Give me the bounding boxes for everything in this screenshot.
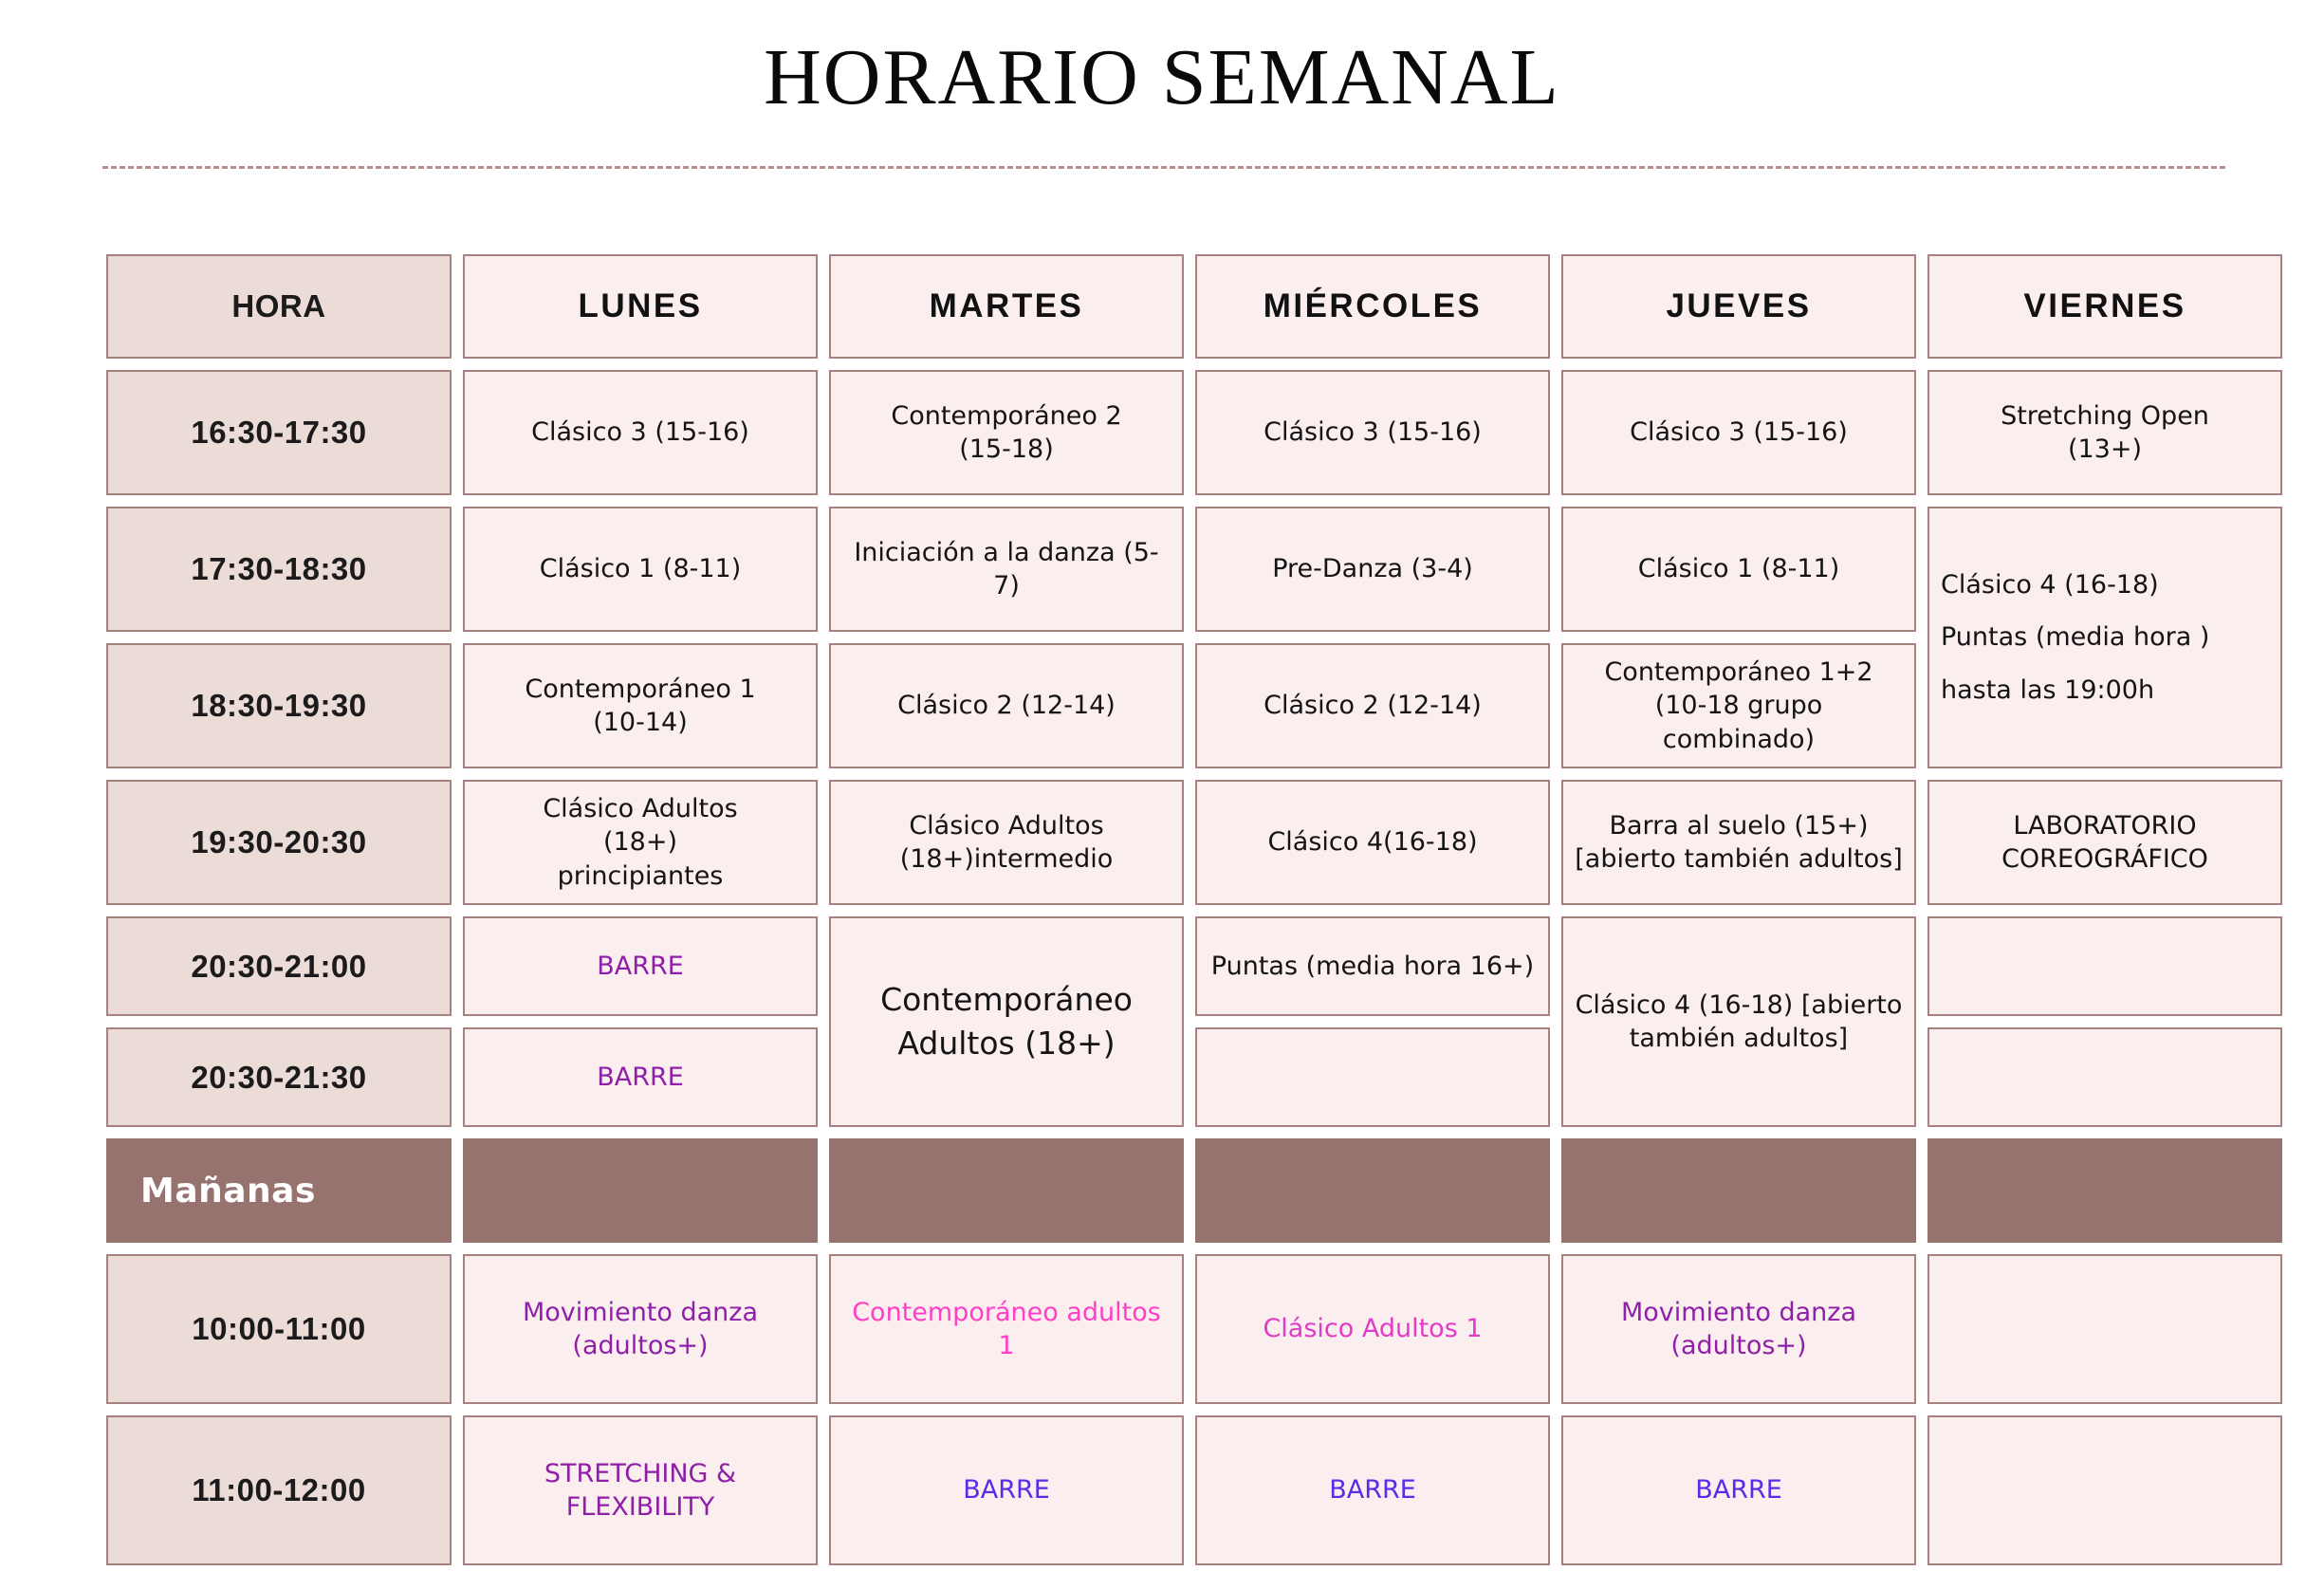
class-cell-miercoles-1000[interactable]: Clásico Adultos 1 xyxy=(1195,1254,1550,1404)
class-cell-jueves-1100-text: BARRE xyxy=(1695,1473,1782,1506)
class-cell-viernes-1100[interactable] xyxy=(1927,1415,2282,1565)
class-cell-miercoles-1100[interactable]: BARRE xyxy=(1195,1415,1550,1565)
class-cell-lunes-2130[interactable]: BARRE xyxy=(463,1027,818,1127)
class-cell-jueves-1730[interactable]: Clásico 1 (8-11) xyxy=(1561,507,1916,632)
class-cell-martes-1100[interactable]: BARRE xyxy=(829,1415,1184,1565)
class-cell-viernes-1730-1830-merged[interactable]: Clásico 4 (16-18) Puntas (media hora ) h… xyxy=(1927,507,2282,768)
section-band-miercoles xyxy=(1195,1138,1550,1243)
class-cell-lunes-1000[interactable]: Movimiento danza (adultos+) xyxy=(463,1254,818,1404)
column-header-viernes-label: VIERNES xyxy=(2023,287,2186,325)
class-cell-martes-1630-text: Contemporáneo 2 (15-18) xyxy=(891,399,1121,466)
class-cell-viernes-1630-text: Stretching Open (13+) xyxy=(2001,399,2209,466)
class-cell-lunes-2030[interactable]: BARRE xyxy=(463,916,818,1016)
column-header-lunes: LUNES xyxy=(463,254,818,359)
column-header-lunes-label: LUNES xyxy=(578,287,702,325)
class-cell-martes-1730[interactable]: Iniciación a la danza (5-7) xyxy=(829,507,1184,632)
class-cell-martes-1000[interactable]: Contemporáneo adultos 1 xyxy=(829,1254,1184,1404)
class-cell-jueves-1100[interactable]: BARRE xyxy=(1561,1415,1916,1565)
class-cell-viernes-1930-text: LABORATORIO COREOGRÁFICO xyxy=(2001,809,2208,876)
class-cell-miercoles-2030-text: Puntas (media hora 16+) xyxy=(1211,950,1534,983)
class-cell-viernes-1730-1830-merged-text: Clásico 4 (16-18) Puntas (media hora ) h… xyxy=(1941,559,2209,716)
time-label-2030-2130-text: 20:30-21:30 xyxy=(191,1060,366,1096)
class-cell-lunes-1830-text: Contemporáneo 1 (10-14) xyxy=(525,673,755,739)
column-header-hora-label: HORA xyxy=(231,288,325,324)
title-block: HORARIO SEMANAL xyxy=(0,36,2324,120)
class-cell-miercoles-1730[interactable]: Pre-Danza (3-4) xyxy=(1195,507,1550,632)
class-cell-lunes-1930[interactable]: Clásico Adultos (18+) principiantes xyxy=(463,780,818,905)
class-cell-jueves-1930-text: Barra al suelo (15+) [abierto también ad… xyxy=(1575,809,1903,876)
class-cell-lunes-2030-text: BARRE xyxy=(597,950,684,983)
class-cell-jueves-2030-merged-text: Clásico 4 (16-18) [abierto también adult… xyxy=(1576,989,1903,1055)
section-band-lunes xyxy=(463,1138,818,1243)
class-cell-martes-1830-text: Clásico 2 (12-14) xyxy=(897,689,1116,722)
class-cell-viernes-1630[interactable]: Stretching Open (13+) xyxy=(1927,370,2282,495)
class-cell-viernes-2030[interactable] xyxy=(1927,916,2282,1016)
column-header-hora: HORA xyxy=(106,254,452,359)
section-band-mananas-label: Mañanas xyxy=(140,1172,316,1211)
class-cell-miercoles-1830[interactable]: Clásico 2 (12-14) xyxy=(1195,643,1550,768)
column-header-miercoles: MIÉRCOLES xyxy=(1195,254,1550,359)
class-cell-martes-1100-text: BARRE xyxy=(963,1473,1050,1506)
class-cell-jueves-1930[interactable]: Barra al suelo (15+) [abierto también ad… xyxy=(1561,780,1916,905)
time-label-1930-text: 19:30-20:30 xyxy=(191,824,366,860)
time-label-1100-text: 11:00-12:00 xyxy=(192,1472,365,1508)
column-header-martes: MARTES xyxy=(829,254,1184,359)
title-divider xyxy=(102,166,2225,169)
class-cell-lunes-1630-text: Clásico 3 (15-16) xyxy=(531,416,749,449)
column-header-jueves-label: JUEVES xyxy=(1666,287,1811,325)
time-label-1730: 17:30-18:30 xyxy=(106,507,452,632)
class-cell-miercoles-1630-text: Clásico 3 (15-16) xyxy=(1263,416,1482,449)
class-cell-martes-2030-merged-text: Contemporáneo Adultos (18+) xyxy=(880,978,1133,1064)
class-cell-jueves-1000[interactable]: Movimiento danza (adultos+) xyxy=(1561,1254,1916,1404)
class-cell-martes-1830[interactable]: Clásico 2 (12-14) xyxy=(829,643,1184,768)
schedule-page: HORARIO SEMANAL HORA LUNES MARTES MIÉRCO… xyxy=(0,0,2324,1571)
class-cell-jueves-2030-merged[interactable]: Clásico 4 (16-18) [abierto también adult… xyxy=(1561,916,1916,1127)
class-cell-lunes-1730[interactable]: Clásico 1 (8-11) xyxy=(463,507,818,632)
class-cell-martes-2030-merged[interactable]: Contemporáneo Adultos (18+) xyxy=(829,916,1184,1127)
section-band-jueves xyxy=(1561,1138,1916,1243)
time-label-1630: 16:30-17:30 xyxy=(106,370,452,495)
class-cell-miercoles-1630[interactable]: Clásico 3 (15-16) xyxy=(1195,370,1550,495)
class-cell-jueves-1830[interactable]: Contemporáneo 1+2 (10-18 grupo combinado… xyxy=(1561,643,1916,768)
class-cell-lunes-2130-text: BARRE xyxy=(597,1061,684,1094)
class-cell-miercoles-1930-text: Clásico 4(16-18) xyxy=(1267,825,1477,859)
time-label-1830-text: 18:30-19:30 xyxy=(191,688,366,724)
class-cell-martes-1630[interactable]: Contemporáneo 2 (15-18) xyxy=(829,370,1184,495)
class-cell-lunes-1930-text: Clásico Adultos (18+) principiantes xyxy=(543,792,737,892)
class-cell-miercoles-1100-text: BARRE xyxy=(1329,1473,1416,1506)
class-cell-miercoles-1830-text: Clásico 2 (12-14) xyxy=(1263,689,1482,722)
time-label-2030-2130: 20:30-21:30 xyxy=(106,1027,452,1127)
class-cell-lunes-1000-text: Movimiento danza (adultos+) xyxy=(523,1296,758,1362)
time-label-2030-2100: 20:30-21:00 xyxy=(106,916,452,1016)
time-label-1630-text: 16:30-17:30 xyxy=(191,415,366,451)
class-cell-lunes-1730-text: Clásico 1 (8-11) xyxy=(540,552,742,585)
column-header-miercoles-label: MIÉRCOLES xyxy=(1263,287,1483,325)
class-cell-jueves-1630[interactable]: Clásico 3 (15-16) xyxy=(1561,370,1916,495)
class-cell-miercoles-2030[interactable]: Puntas (media hora 16+) xyxy=(1195,916,1550,1016)
class-cell-miercoles-1930[interactable]: Clásico 4(16-18) xyxy=(1195,780,1550,905)
class-cell-miercoles-1000-text: Clásico Adultos 1 xyxy=(1263,1312,1482,1345)
time-label-1000: 10:00-11:00 xyxy=(106,1254,452,1404)
time-label-1000-text: 10:00-11:00 xyxy=(192,1311,365,1347)
class-cell-viernes-1930[interactable]: LABORATORIO COREOGRÁFICO xyxy=(1927,780,2282,905)
time-label-1100: 11:00-12:00 xyxy=(106,1415,452,1565)
class-cell-viernes-2130[interactable] xyxy=(1927,1027,2282,1127)
time-label-1730-text: 17:30-18:30 xyxy=(191,551,366,587)
time-label-1830: 18:30-19:30 xyxy=(106,643,452,768)
class-cell-martes-1930[interactable]: Clásico Adultos (18+)intermedio xyxy=(829,780,1184,905)
class-cell-lunes-1100-text: STRETCHING & FLEXIBILITY xyxy=(544,1457,736,1524)
time-label-1930: 19:30-20:30 xyxy=(106,780,452,905)
class-cell-lunes-1100[interactable]: STRETCHING & FLEXIBILITY xyxy=(463,1415,818,1565)
class-cell-martes-1730-text: Iniciación a la danza (5-7) xyxy=(842,536,1171,602)
column-header-viernes: VIERNES xyxy=(1927,254,2282,359)
weekly-schedule-table: HORA LUNES MARTES MIÉRCOLES JUEVES VIERN… xyxy=(106,254,2237,1565)
class-cell-lunes-1630[interactable]: Clásico 3 (15-16) xyxy=(463,370,818,495)
class-cell-jueves-1730-text: Clásico 1 (8-11) xyxy=(1638,552,1840,585)
section-band-martes xyxy=(829,1138,1184,1243)
class-cell-lunes-1830[interactable]: Contemporáneo 1 (10-14) xyxy=(463,643,818,768)
column-header-jueves: JUEVES xyxy=(1561,254,1916,359)
class-cell-miercoles-1730-text: Pre-Danza (3-4) xyxy=(1272,552,1473,585)
section-band-viernes xyxy=(1927,1138,2282,1243)
class-cell-viernes-1000[interactable] xyxy=(1927,1254,2282,1404)
class-cell-martes-1000-text: Contemporáneo adultos 1 xyxy=(842,1296,1171,1362)
column-header-martes-label: MARTES xyxy=(930,287,1084,325)
class-cell-martes-1930-text: Clásico Adultos (18+)intermedio xyxy=(900,809,1114,876)
page-title: HORARIO SEMANAL xyxy=(0,36,2324,120)
section-band-mananas: Mañanas xyxy=(106,1138,452,1243)
class-cell-miercoles-2130[interactable] xyxy=(1195,1027,1550,1127)
class-cell-jueves-1000-text: Movimiento danza (adultos+) xyxy=(1621,1296,1856,1362)
class-cell-jueves-1830-text: Contemporáneo 1+2 (10-18 grupo combinado… xyxy=(1604,656,1872,755)
time-label-2030-2100-text: 20:30-21:00 xyxy=(191,949,366,985)
class-cell-jueves-1630-text: Clásico 3 (15-16) xyxy=(1630,416,1848,449)
